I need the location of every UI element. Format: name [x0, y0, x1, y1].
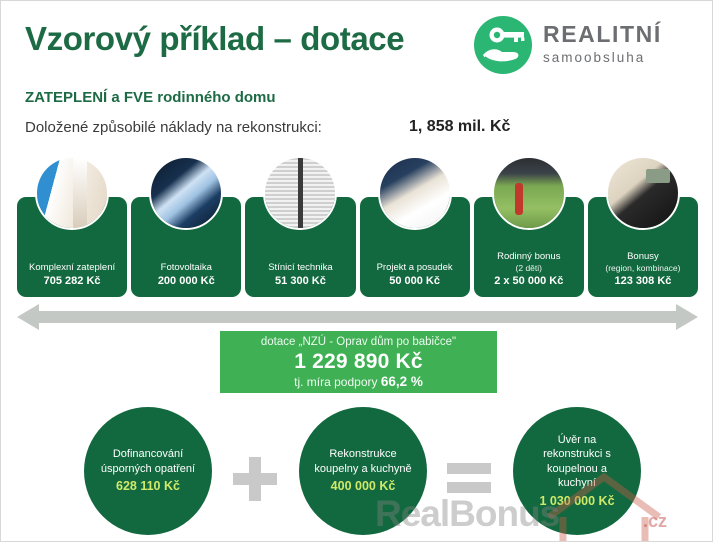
family-children-photo-icon [492, 156, 566, 230]
subsidy-rate-label: tj. míra podpory [294, 375, 377, 389]
financing-bubble[interactable]: Úvěr na rekonstrukci s koupelnou a kuchy… [513, 407, 641, 535]
eligible-cost-label: Doložené způsobilé náklady na rekonstruk… [25, 119, 322, 136]
brand-tagline: samoobsluha [543, 49, 662, 66]
financing-equation-row: Dofinancování úsporných opatření 628 110… [17, 405, 698, 537]
cost-card-value: 705 282 Kč [44, 274, 101, 288]
cost-card-value: 200 000 Kč [158, 274, 215, 288]
brand-logo: REALITNÍ samoobsluha [473, 15, 703, 81]
financing-bubble-value: 628 110 Kč [116, 478, 180, 495]
subsidy-program-name: dotace „NZÚ - Oprav dům po babičce" [261, 335, 456, 350]
cost-card[interactable]: Stínicí technika 51 300 Kč [245, 197, 355, 297]
cost-card-value: 123 308 Kč [615, 274, 672, 288]
cost-card-label: Rodinný bonus [495, 251, 562, 263]
plus-operator-icon [233, 457, 277, 501]
subsidy-rate: tj. míra podpory 66,2 % [294, 374, 423, 390]
photovoltaic-panels-photo-icon [149, 156, 223, 230]
eligible-cost-value: 1, 858 mil. Kč [409, 118, 510, 136]
cost-card[interactable]: Projekt a posudek 50 000 Kč [360, 197, 470, 297]
financing-bubble-label: Úvěr na rekonstrukci s koupelnou a kuchy… [513, 433, 641, 491]
cost-card-label: Stínicí technika [266, 262, 334, 274]
cost-card-value: 51 300 Kč [275, 274, 326, 288]
brand-wordmark: REALITNÍ samoobsluha [543, 23, 662, 66]
cost-card-value: 2 x 50 000 Kč [494, 274, 563, 288]
cost-card[interactable]: Rodinný bonus (2 děti) 2 x 50 000 Kč [474, 197, 584, 297]
financing-bubble[interactable]: Rekonstrukce koupelny a kuchyně 400 000 … [299, 407, 427, 535]
financing-bubble[interactable]: Dofinancování úsporných opatření 628 110… [84, 407, 212, 535]
cost-card-label: Komplexní zateplení [27, 262, 117, 274]
subsidy-summary-box: dotace „NZÚ - Oprav dům po babičce" 1 22… [220, 331, 497, 393]
insulation-photo-icon [35, 156, 109, 230]
cost-card[interactable]: Fotovoltaika 200 000 Kč [131, 197, 241, 297]
financing-bubble-label: Rekonstrukce koupelny a kuchyně [299, 447, 427, 476]
double-headed-horizontal-arrow-icon [17, 304, 698, 330]
financing-bubble-label: Dofinancování úsporných opatření [84, 447, 212, 476]
slide-canvas: Vzorový příklad – dotace R [0, 0, 713, 542]
cost-items-row: Komplexní zateplení 705 282 Kč Fotovolta… [17, 197, 698, 297]
cost-card-label: Fotovoltaika [159, 262, 214, 274]
financing-bubble-value: 1 030 000 Kč [539, 493, 614, 510]
cost-card-sublabel: (2 děti) [516, 263, 542, 274]
cost-card-value: 50 000 Kč [389, 274, 440, 288]
calculator-money-photo-icon [606, 156, 680, 230]
subtitle: ZATEPLENÍ a FVE rodinného domu [25, 89, 276, 106]
subsidy-rate-value: 66,2 % [381, 374, 423, 389]
key-in-hand-circle-icon [473, 15, 533, 75]
subsidy-amount: 1 229 890 Kč [294, 350, 423, 374]
page-title: Vzorový příklad – dotace [25, 20, 404, 58]
blueprint-project-photo-icon [378, 156, 452, 230]
cost-card-sublabel: (region, kombinace) [605, 263, 680, 274]
cost-card-label: Projekt a posudek [375, 262, 455, 274]
equals-operator-icon [447, 463, 491, 493]
header: Vzorový příklad – dotace R [1, 1, 713, 151]
brand-name: REALITNÍ [543, 23, 662, 46]
cost-card[interactable]: Bonusy (region, kombinace) 123 308 Kč [588, 197, 698, 297]
cost-card[interactable]: Komplexní zateplení 705 282 Kč [17, 197, 127, 297]
financing-bubble-value: 400 000 Kč [331, 478, 396, 495]
cost-card-label: Bonusy [625, 251, 661, 263]
window-blinds-photo-icon [263, 156, 337, 230]
